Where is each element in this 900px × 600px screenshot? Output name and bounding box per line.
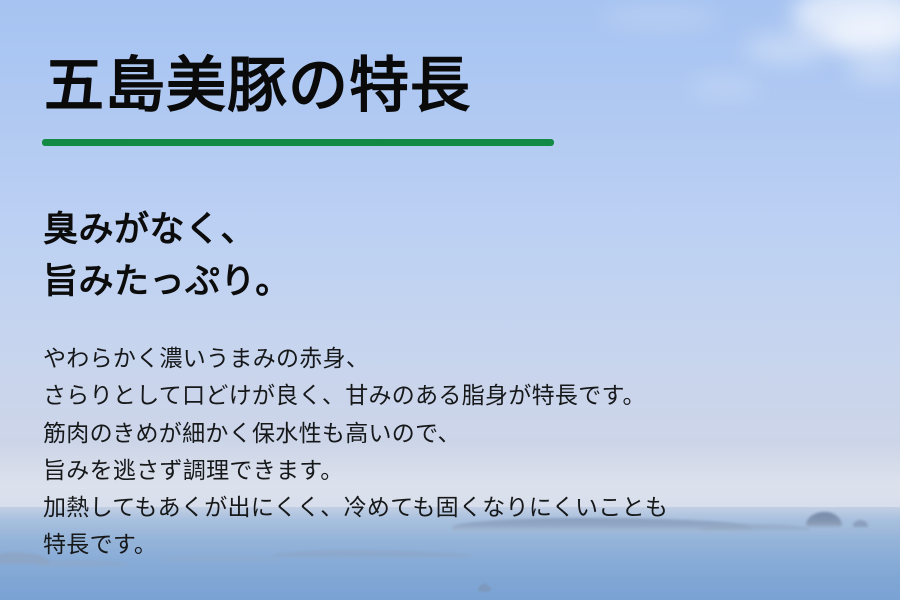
- page-title: 五島美豚の特長: [44, 56, 471, 116]
- body-paragraph: やわらかく濃いうまみの赤身、 さらりとして口どけが良く、甘みのある脂身が特長です…: [43, 340, 668, 564]
- subheading: 臭みがなく、 旨みたっぷり。: [43, 204, 291, 308]
- slide-content: 五島美豚の特長 臭みがなく、 旨みたっぷり。 やわらかく濃いうまみの赤身、 さら…: [0, 0, 900, 600]
- slide-canvas: 五島美豚の特長 臭みがなく、 旨みたっぷり。 やわらかく濃いうまみの赤身、 さら…: [0, 0, 900, 600]
- title-underline-rule: [42, 139, 554, 146]
